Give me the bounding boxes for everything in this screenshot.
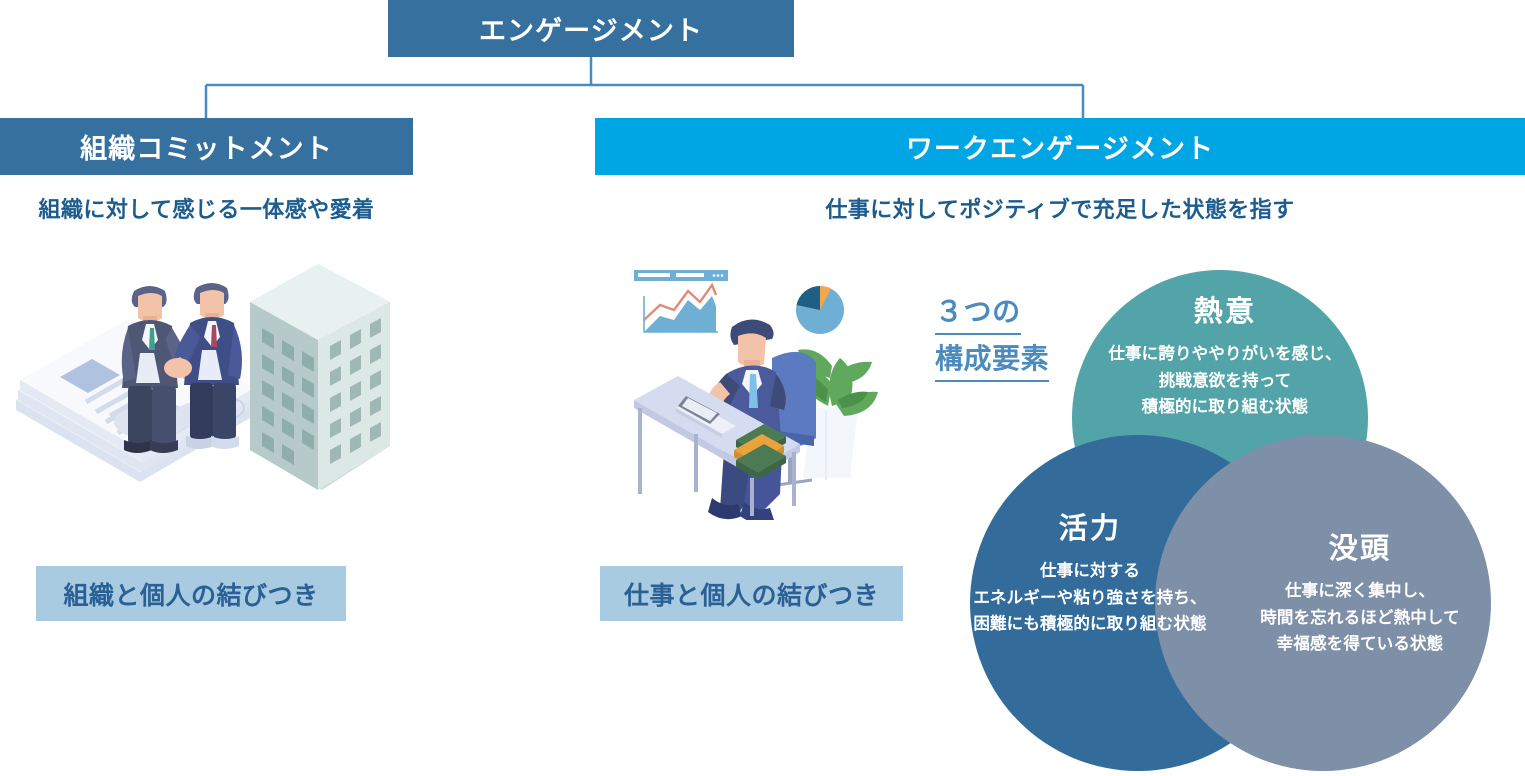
node-organizational-commitment: 組織コミットメント [0, 118, 413, 175]
venn-circle-bottou [1155, 435, 1491, 771]
venn-diagram: 熱意 仕事に誇りややりがいを感じ、 挑戦意欲を持って 積極的に取り組む状態 活力… [920, 250, 1525, 776]
diagram-canvas: エンゲージメント 組織コミットメント 組織に対して感じる一体感や愛着 ワークエン… [0, 0, 1525, 776]
venn-circles [920, 250, 1525, 776]
caption-organizational-commitment: 組織に対して感じる一体感や愛着 [0, 192, 413, 224]
area-chart-graphic [644, 285, 718, 332]
handshake-building-illustration [0, 250, 400, 506]
node-engagement: エンゲージメント [388, 0, 794, 57]
pill-organization-individual-link: 組織と個人の結びつき [36, 566, 346, 621]
pie-chart-graphic [796, 286, 844, 334]
node-work-engagement: ワークエンゲージメント [595, 118, 1525, 175]
progress-bar-graphic [634, 270, 728, 281]
businessman-desk-charts-illustration [600, 248, 900, 520]
pill-work-individual-link: 仕事と個人の結びつき [600, 566, 903, 621]
caption-work-engagement: 仕事に対してポジティブで充足した状態を指す [595, 192, 1525, 224]
